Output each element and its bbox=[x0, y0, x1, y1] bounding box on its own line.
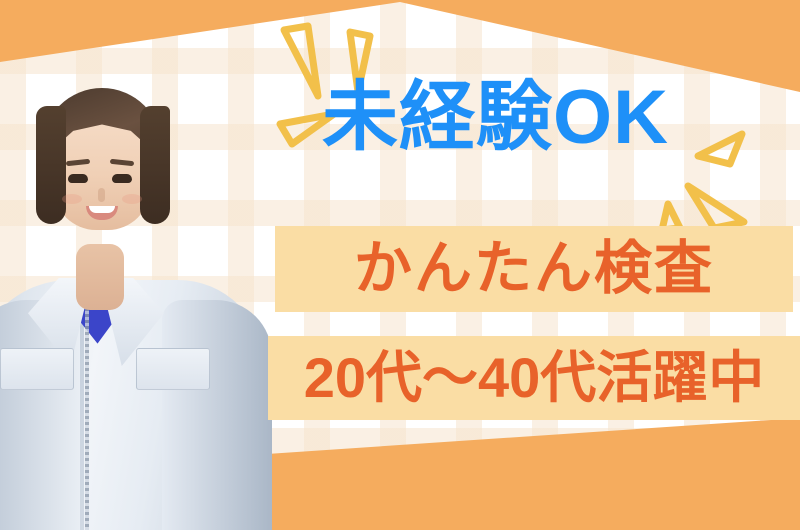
jacket-shoulder-right bbox=[162, 300, 272, 530]
hair-side-right bbox=[140, 106, 170, 224]
eye-left bbox=[68, 174, 88, 183]
teeth bbox=[89, 206, 115, 213]
neck bbox=[76, 244, 124, 310]
jacket-pocket-left bbox=[0, 348, 74, 390]
chip-label: 20代〜40代活躍中 bbox=[304, 350, 765, 406]
headline-text: 未経験OK bbox=[322, 80, 669, 156]
eye-right bbox=[112, 174, 132, 183]
jacket-zipper bbox=[85, 284, 89, 530]
cheek-left bbox=[62, 194, 82, 204]
jacket-pocket-right bbox=[136, 348, 210, 390]
recruitment-banner: 未経験OK かんたん検査 20代〜40代活躍中 bbox=[0, 0, 800, 530]
worker-photo bbox=[0, 48, 252, 530]
sparkle-wedge-right bbox=[684, 112, 800, 232]
hair-side-left bbox=[36, 106, 66, 224]
chip-label: かんたん検査 bbox=[354, 240, 714, 298]
highlight-chip-age-range: 20代〜40代活躍中 bbox=[268, 336, 800, 420]
cheek-right bbox=[122, 194, 142, 204]
nose bbox=[98, 188, 105, 202]
highlight-chip-easy-inspection: かんたん検査 bbox=[275, 226, 793, 312]
